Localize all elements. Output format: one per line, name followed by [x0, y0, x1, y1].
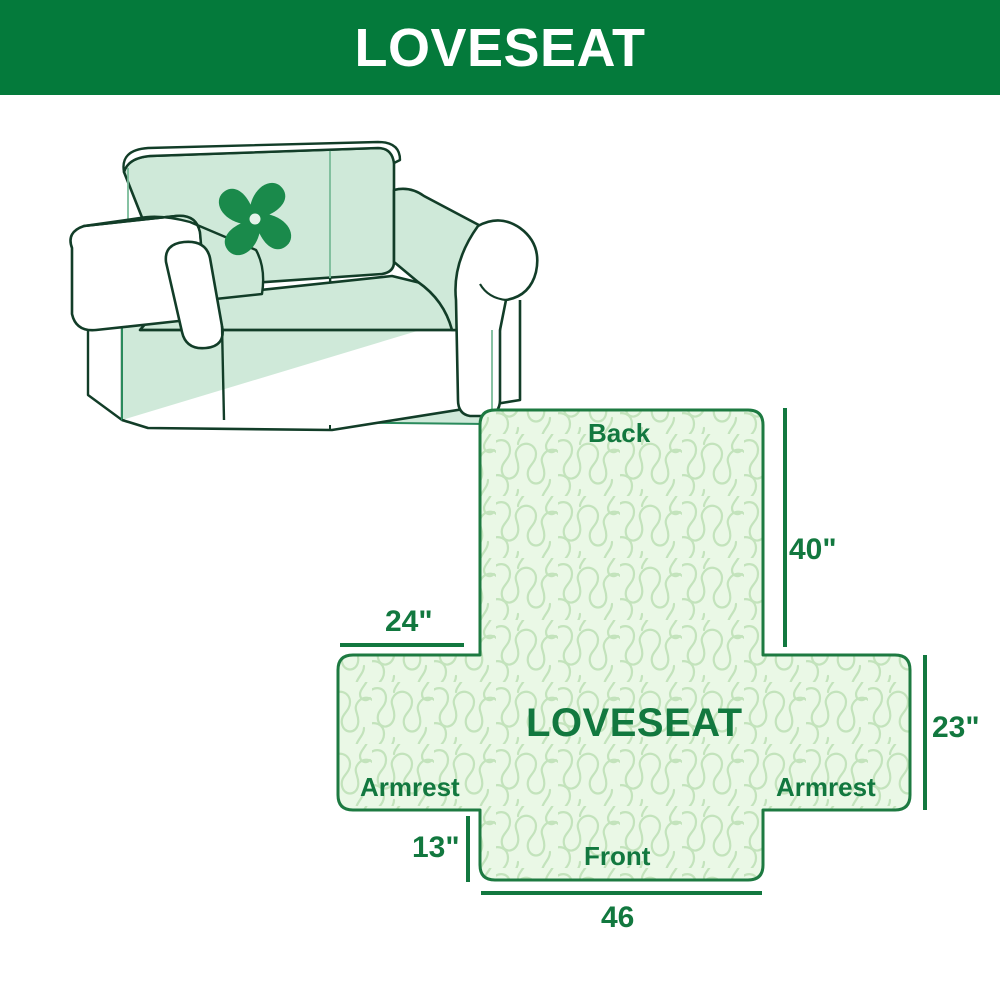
- part-label-back: Back: [588, 420, 650, 446]
- header-banner: LOVESEAT: [0, 0, 1000, 95]
- dimension-label-13: 13": [412, 833, 460, 863]
- part-label-center: LOVESEAT: [526, 703, 743, 743]
- part-label-armrest-right: Armrest: [776, 774, 876, 800]
- dimension-label-24: 24": [385, 607, 433, 637]
- diagram-canvas: [0, 95, 1000, 1000]
- part-label-armrest-left: Armrest: [360, 774, 460, 800]
- dimension-label-40: 40": [789, 535, 837, 565]
- dimension-label-46: 46: [601, 903, 634, 933]
- dimension-label-23: 23": [932, 713, 980, 743]
- part-label-front: Front: [584, 843, 650, 869]
- loveseat-illustration: [71, 142, 538, 430]
- page-title: LOVESEAT: [354, 21, 645, 75]
- diagram-stage: Back Armrest Armrest Front LOVESEAT 40" …: [0, 95, 1000, 1000]
